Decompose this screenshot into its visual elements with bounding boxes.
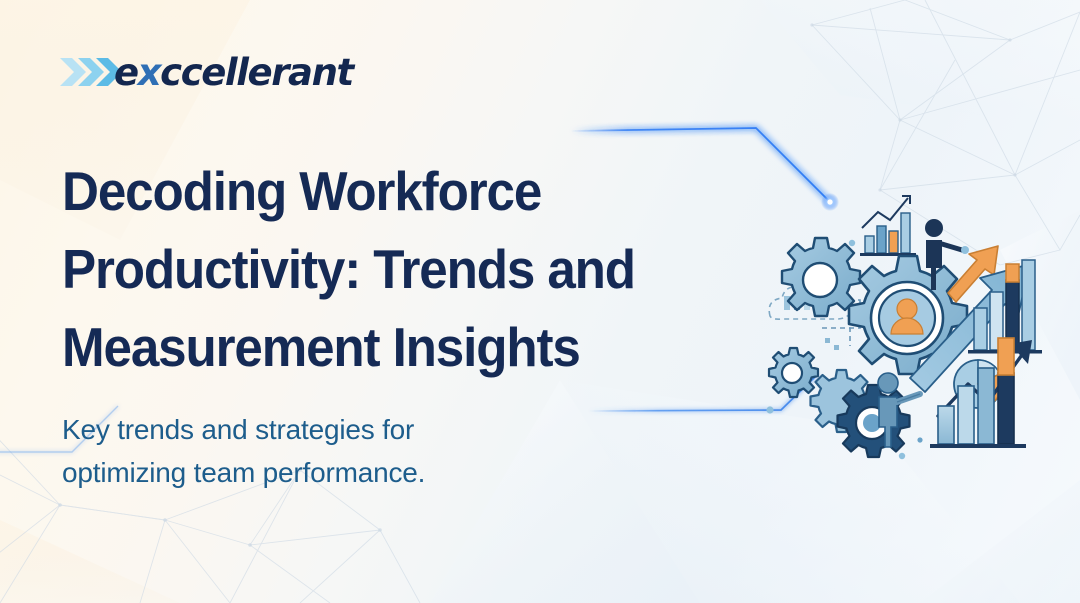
gear-dark-bottom-left: [838, 385, 910, 457]
title-line-3: Measurement Insights: [62, 308, 732, 386]
logo-wordmark: exccellerant: [114, 54, 353, 91]
brand-logo[interactable]: exccellerant: [58, 48, 353, 96]
logo-text: exccellerant: [114, 51, 353, 94]
bar-chart-top: [860, 196, 916, 256]
title-line-1: Decoding Workforce: [62, 152, 732, 230]
title-line-2: Productivity: Trends and: [62, 230, 732, 308]
page-title: Decoding Workforce Productivity: Trends …: [62, 152, 782, 386]
subtitle-line-1: Key trends and strategies for: [62, 408, 622, 451]
gear-outline-top-left: [782, 238, 860, 316]
workforce-productivity-illustration: [762, 188, 1080, 468]
page-subtitle: Key trends and strategies for optimizing…: [62, 408, 622, 494]
subtitle-line-2: optimizing team performance.: [62, 451, 622, 494]
gear-small-left: [769, 348, 818, 397]
banner-canvas: exccellerant Decoding Workforce Producti…: [0, 0, 1080, 603]
